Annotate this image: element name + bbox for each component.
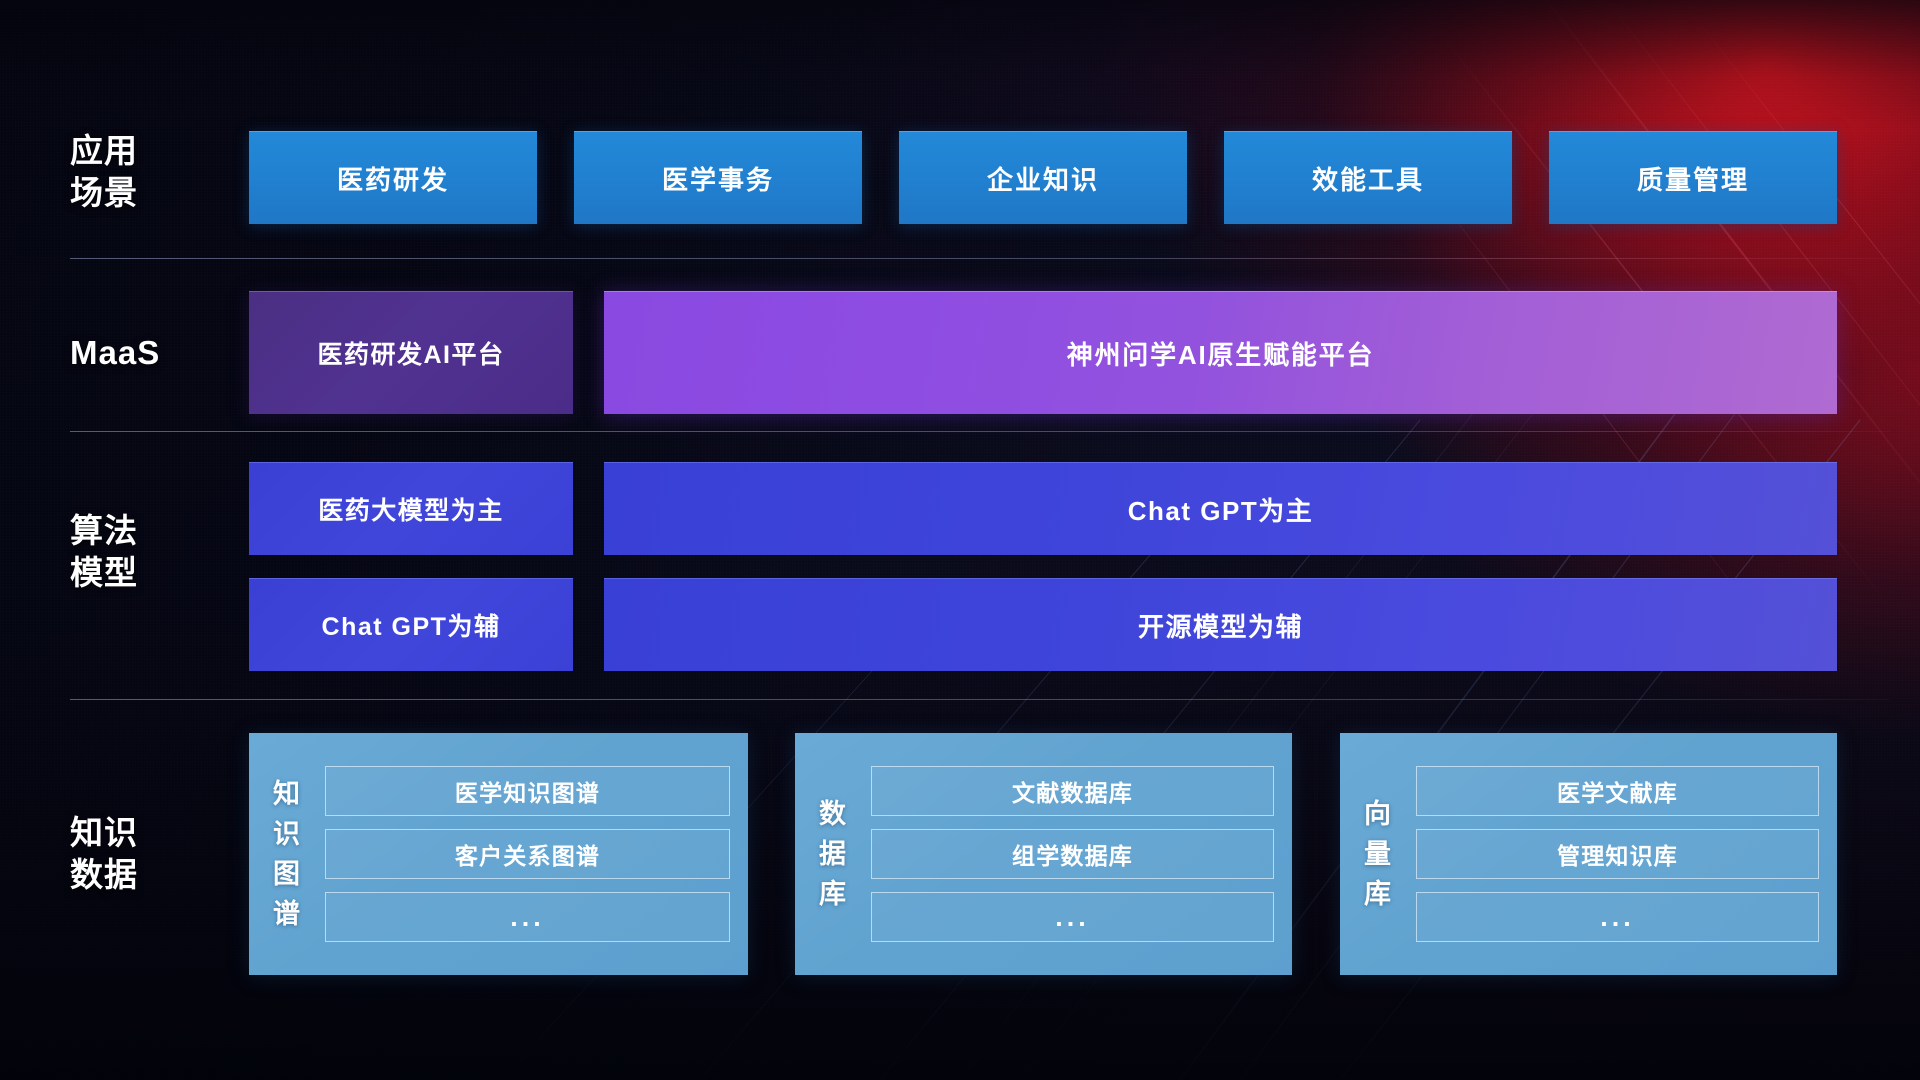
app-box-4[interactable]: 质量管理 xyxy=(1549,131,1837,224)
algo-bar-1-left[interactable]: Chat GPT为辅 xyxy=(249,578,573,671)
knowledge-group-2-items: 医学文献库 管理知识库 ... xyxy=(1416,766,1837,942)
algo-bar-1-right[interactable]: 开源模型为辅 xyxy=(604,578,1837,671)
knowledge-item-more[interactable]: ... xyxy=(1416,892,1819,942)
maas-platform-left[interactable]: 医药研发AI平台 xyxy=(249,291,573,414)
algo-bar-0-left[interactable]: 医药大模型为主 xyxy=(249,462,573,555)
app-box-2[interactable]: 企业知识 xyxy=(899,131,1187,224)
knowledge-group-0-items: 医学知识图谱 客户关系图谱 ... xyxy=(325,766,748,942)
knowledge-item[interactable]: 医学文献库 xyxy=(1416,766,1819,816)
app-box-3-label: 效能工具 xyxy=(1312,160,1424,197)
algo-bar-0-left-label: 医药大模型为主 xyxy=(318,491,504,527)
algo-bar-1-left-label: Chat GPT为辅 xyxy=(322,607,501,643)
app-box-2-label: 企业知识 xyxy=(987,160,1099,197)
knowledge-group-1-items: 文献数据库 组学数据库 ... xyxy=(871,766,1292,942)
knowledge-item-more[interactable]: ... xyxy=(325,892,730,942)
knowledge-group-1[interactable]: 数 据 库 文献数据库 组学数据库 ... xyxy=(795,733,1292,975)
app-box-3[interactable]: 效能工具 xyxy=(1224,131,1512,224)
knowledge-item[interactable]: 组学数据库 xyxy=(871,829,1274,879)
knowledge-group-2[interactable]: 向 量 库 医学文献库 管理知识库 ... xyxy=(1340,733,1837,975)
knowledge-item-more[interactable]: ... xyxy=(871,892,1274,942)
algo-bar-1-right-label: 开源模型为辅 xyxy=(1138,607,1303,644)
row-label-application: 应用 场景 xyxy=(70,130,210,214)
knowledge-group-0-title: 知 识 图 谱 xyxy=(249,774,325,934)
slide-canvas: 应用 场景 医药研发 医学事务 企业知识 效能工具 质量管理 MaaS 医药研发… xyxy=(0,0,1920,1080)
knowledge-item[interactable]: 管理知识库 xyxy=(1416,829,1819,879)
app-box-1[interactable]: 医学事务 xyxy=(574,131,862,224)
knowledge-group-2-title: 向 量 库 xyxy=(1340,794,1416,914)
app-box-1-label: 医学事务 xyxy=(662,160,774,197)
row-label-knowledge: 知识 数据 xyxy=(70,812,210,896)
knowledge-item[interactable]: 医学知识图谱 xyxy=(325,766,730,816)
knowledge-group-0[interactable]: 知 识 图 谱 医学知识图谱 客户关系图谱 ... xyxy=(249,733,748,975)
divider-application-maas xyxy=(70,258,1890,259)
knowledge-item[interactable]: 客户关系图谱 xyxy=(325,829,730,879)
maas-platform-right-label: 神州问学AI原生赋能平台 xyxy=(1067,335,1375,372)
divider-algorithm-knowledge xyxy=(70,699,1890,700)
maas-platform-right[interactable]: 神州问学AI原生赋能平台 xyxy=(604,291,1837,414)
app-box-0[interactable]: 医药研发 xyxy=(249,131,537,224)
algo-bar-0-right-label: Chat GPT为主 xyxy=(1128,491,1313,528)
algo-bar-0-right[interactable]: Chat GPT为主 xyxy=(604,462,1837,555)
knowledge-group-1-title: 数 据 库 xyxy=(795,794,871,914)
app-box-4-label: 质量管理 xyxy=(1637,160,1749,197)
row-label-maas: MaaS xyxy=(70,332,210,374)
knowledge-item[interactable]: 文献数据库 xyxy=(871,766,1274,816)
row-label-algorithm: 算法 模型 xyxy=(70,510,210,594)
diagram-content: 应用 场景 医药研发 医学事务 企业知识 效能工具 质量管理 MaaS 医药研发… xyxy=(0,0,1920,1080)
divider-maas-algorithm xyxy=(70,431,1890,432)
app-box-0-label: 医药研发 xyxy=(337,160,449,197)
maas-platform-left-label: 医药研发AI平台 xyxy=(317,335,504,371)
